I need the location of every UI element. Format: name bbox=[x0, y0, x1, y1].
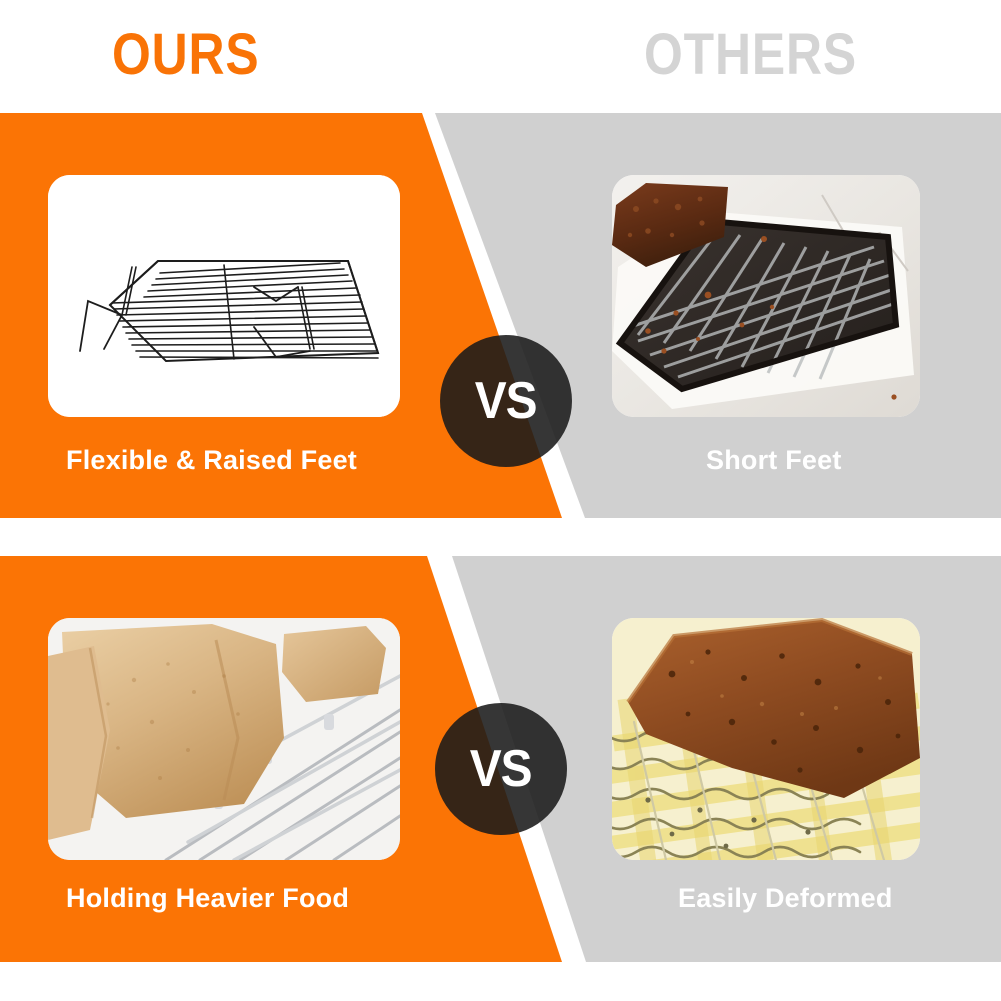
ours-caption-load: Holding Heavier Food bbox=[66, 883, 349, 913]
bread-loaves-on-chrome-wire-cooling-rack-image bbox=[48, 618, 400, 860]
black-wire-cooling-rack-with-raised-folding-feet-image bbox=[48, 175, 400, 417]
others-image-card-load bbox=[612, 618, 920, 860]
black-grid-cooling-rack-flat-on-parchment-with-cake-image bbox=[612, 175, 920, 417]
vs-label: VS bbox=[470, 743, 532, 795]
vs-badge-load: VS bbox=[435, 703, 567, 835]
header-others-title: OTHERS bbox=[644, 26, 857, 84]
ours-caption-feet: Flexible & Raised Feet bbox=[66, 445, 357, 475]
comparison-infographic: OURS OTHERS bbox=[0, 0, 1001, 1001]
vs-label: VS bbox=[475, 375, 537, 427]
vs-badge-feet: VS bbox=[440, 335, 572, 467]
others-caption-load: Easily Deformed bbox=[678, 883, 893, 913]
header: OURS OTHERS bbox=[0, 0, 1001, 113]
comparison-section-feet: Flexible & Raised Feet bbox=[0, 113, 1001, 518]
others-image-card-feet bbox=[612, 175, 920, 417]
comparison-section-load: Holding Heavier Food bbox=[0, 556, 1001, 962]
others-caption-feet: Short Feet bbox=[706, 445, 842, 475]
fruit-loaf-on-bent-wire-rack-over-yellow-striped-cloth-image bbox=[612, 618, 920, 860]
ours-image-card-feet bbox=[48, 175, 400, 417]
ours-image-card-load bbox=[48, 618, 400, 860]
header-ours-title: OURS bbox=[112, 26, 260, 84]
